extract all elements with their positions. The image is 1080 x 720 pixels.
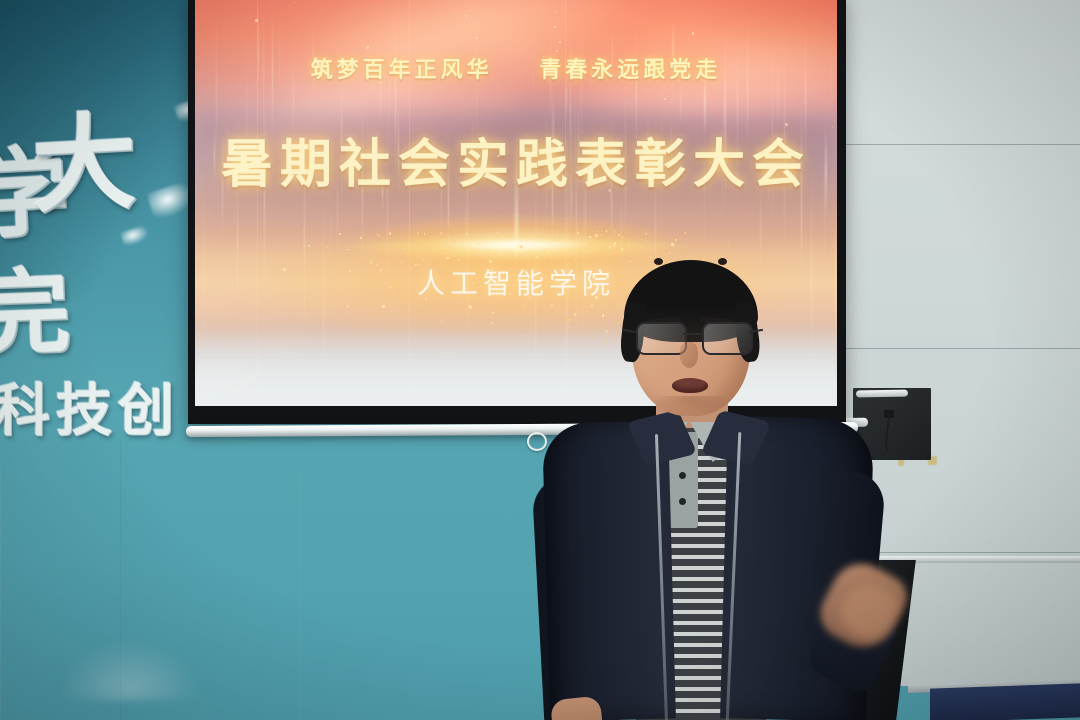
light-particle bbox=[524, 305, 526, 307]
light-particle bbox=[480, 256, 482, 258]
light-particle bbox=[412, 253, 413, 254]
light-particle bbox=[458, 259, 460, 261]
screen-fabric-seam bbox=[409, 0, 410, 406]
light-particle bbox=[388, 253, 389, 254]
light-particle bbox=[477, 243, 479, 245]
light-particle bbox=[417, 232, 420, 235]
mouth bbox=[672, 378, 708, 393]
light-particle bbox=[326, 246, 328, 248]
light-particle bbox=[303, 231, 305, 233]
light-particle bbox=[481, 231, 483, 233]
light-particle bbox=[440, 232, 443, 235]
light-particle bbox=[600, 234, 602, 236]
light-particle bbox=[724, 241, 725, 242]
light-particle bbox=[621, 236, 624, 239]
slide-subtitle: 筑梦百年正风华 青春永远跟党走 bbox=[195, 52, 837, 84]
light-particle bbox=[302, 246, 304, 248]
light-particle bbox=[477, 312, 479, 314]
light-particle bbox=[461, 242, 462, 243]
light-particle bbox=[647, 231, 649, 233]
light-particle bbox=[536, 256, 538, 258]
light-particle bbox=[366, 46, 369, 49]
light-particle bbox=[508, 252, 511, 255]
light-particle bbox=[346, 305, 349, 308]
light-particle bbox=[355, 308, 357, 310]
light-particle bbox=[451, 251, 452, 252]
light-particle bbox=[554, 240, 555, 241]
light-particle bbox=[466, 233, 468, 235]
wall-sign-row-bottom: 科技创 bbox=[0, 384, 180, 440]
light-particle bbox=[401, 94, 403, 96]
light-particle bbox=[360, 237, 362, 239]
wall-sign-char-mid: 完 bbox=[0, 266, 72, 361]
light-particle bbox=[378, 235, 381, 238]
light-particle bbox=[457, 231, 459, 233]
light-particle bbox=[417, 254, 420, 257]
light-particle bbox=[551, 255, 552, 256]
light-particle bbox=[645, 233, 647, 235]
light-particle bbox=[493, 231, 494, 232]
light-particle bbox=[341, 248, 342, 249]
light-particle bbox=[347, 249, 348, 250]
light-particle bbox=[433, 242, 435, 244]
light-particle bbox=[430, 240, 431, 241]
chin-shadow bbox=[652, 396, 732, 414]
light-particle bbox=[515, 255, 517, 257]
light-particle bbox=[316, 259, 317, 260]
light-particle bbox=[500, 253, 502, 255]
light-particle bbox=[578, 231, 580, 233]
light-particle bbox=[422, 258, 425, 261]
light-particle bbox=[424, 233, 425, 234]
light-particle bbox=[445, 244, 446, 245]
light-particle bbox=[491, 243, 493, 245]
light-particle bbox=[476, 37, 478, 39]
light-particle bbox=[389, 232, 391, 234]
light-particle bbox=[361, 257, 362, 258]
light-particle bbox=[692, 32, 695, 35]
light-particle bbox=[614, 234, 616, 236]
light-particle bbox=[420, 254, 423, 257]
wall-seam bbox=[0, 470, 1, 720]
glasses-lens-right bbox=[702, 322, 753, 355]
light-particle bbox=[582, 231, 584, 233]
light-particle bbox=[543, 249, 545, 251]
wall-gloss-highlight bbox=[60, 640, 200, 700]
light-particle bbox=[339, 233, 341, 235]
light-particle bbox=[425, 309, 427, 311]
light-particle bbox=[606, 230, 608, 232]
whiteboard-seam bbox=[846, 144, 1080, 145]
light-particle bbox=[492, 312, 494, 314]
light-particle bbox=[431, 309, 433, 311]
light-particle bbox=[453, 230, 454, 231]
light-particle bbox=[430, 316, 433, 319]
light-particle bbox=[501, 248, 503, 250]
classroom-presentation-scene: 学 大 完 科技创 bbox=[0, 0, 1080, 720]
light-particle bbox=[567, 239, 568, 240]
light-particle bbox=[382, 305, 385, 308]
light-particle bbox=[553, 244, 554, 245]
eye-left bbox=[654, 258, 663, 265]
light-particle bbox=[441, 321, 443, 323]
eye-right bbox=[718, 258, 727, 265]
light-particle bbox=[651, 234, 652, 235]
nose bbox=[680, 342, 698, 368]
slide-title: 暑期社会实践表彰大会 bbox=[195, 122, 837, 197]
wall-seam bbox=[300, 470, 301, 720]
light-particle bbox=[675, 239, 677, 241]
light-particle bbox=[569, 236, 572, 239]
light-particle bbox=[446, 257, 449, 260]
light-particle bbox=[589, 236, 591, 238]
light-particle bbox=[630, 242, 632, 244]
light-particle bbox=[483, 242, 486, 245]
light-particle bbox=[556, 232, 558, 234]
light-particle bbox=[404, 248, 406, 250]
screen-fabric-seam bbox=[257, 0, 258, 406]
light-particle bbox=[555, 12, 556, 13]
light-particle bbox=[595, 234, 598, 237]
shirt-button bbox=[679, 498, 686, 505]
light-particle bbox=[377, 234, 378, 235]
light-particle bbox=[629, 233, 630, 234]
wall-sign-char-da: 大 bbox=[31, 109, 137, 218]
light-particle bbox=[559, 41, 562, 44]
light-particle bbox=[613, 230, 616, 233]
light-particle bbox=[442, 250, 444, 252]
light-particle bbox=[294, 2, 295, 3]
light-particle bbox=[421, 241, 422, 242]
light-particle bbox=[327, 252, 330, 255]
light-particle bbox=[547, 252, 549, 254]
light-particle bbox=[470, 312, 472, 314]
glasses-bridge bbox=[683, 333, 702, 335]
light-particle bbox=[550, 304, 553, 307]
light-particle bbox=[497, 232, 498, 233]
light-particle bbox=[537, 232, 538, 233]
light-particle bbox=[395, 242, 396, 243]
light-particle bbox=[424, 232, 425, 233]
light-particle bbox=[337, 315, 338, 316]
light-particle bbox=[570, 243, 571, 244]
light-particle bbox=[412, 251, 414, 253]
speaker-person bbox=[560, 246, 980, 720]
light-particle bbox=[609, 243, 610, 244]
light-particle bbox=[684, 232, 686, 234]
light-particle bbox=[597, 231, 598, 232]
screen-pull-ring-icon[interactable] bbox=[527, 432, 547, 451]
light-particle bbox=[518, 231, 519, 232]
light-particle bbox=[466, 15, 467, 16]
light-particle bbox=[553, 259, 555, 261]
shirt-button bbox=[679, 472, 686, 479]
light-particle bbox=[453, 241, 455, 243]
light-particle bbox=[502, 317, 504, 319]
light-particle bbox=[308, 245, 310, 247]
light-particle bbox=[664, 98, 666, 100]
desk-object bbox=[930, 683, 1080, 720]
light-particle bbox=[554, 26, 556, 28]
light-particle bbox=[483, 255, 485, 257]
light-particle bbox=[487, 249, 490, 252]
light-particle bbox=[484, 318, 486, 320]
